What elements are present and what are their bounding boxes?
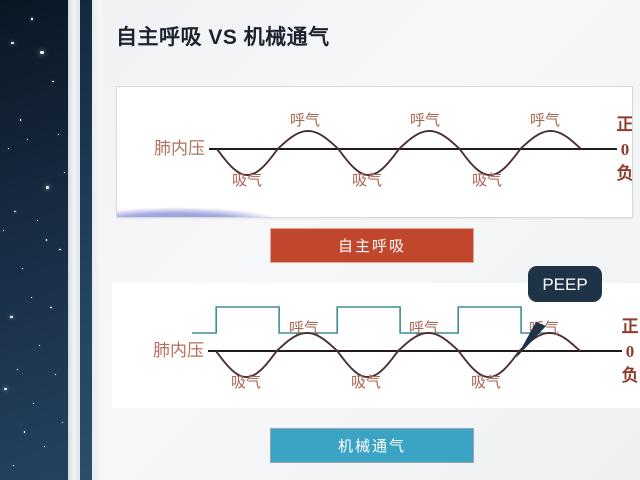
pressure-axis-label: 肺内压 [154, 139, 205, 158]
star-icon [46, 239, 47, 240]
star-icon [33, 403, 34, 404]
peep-callout[interactable]: PEEP [506, 262, 602, 362]
scale-label-zero: 0 [621, 140, 630, 159]
divider-strip-edge [92, 0, 102, 480]
spontaneous-breathing-chart: 肺内压正0负呼气呼气呼气吸气吸气吸气 [117, 87, 632, 217]
star-icon [58, 134, 59, 135]
exhale-label-2: 呼气 [410, 112, 440, 129]
star-icon [31, 297, 32, 298]
slide-content: 自主呼吸 VS 机械通气 肺内压正0负呼气呼气呼气吸气吸气吸气 自主呼吸 肺内压… [102, 0, 640, 480]
inhale-label-2: 吸气 [351, 374, 381, 391]
star-icon [52, 81, 53, 82]
star-icon [27, 139, 28, 140]
starfield-background [0, 0, 68, 480]
star-icon [8, 148, 9, 149]
ventilator-pressure-waveform [192, 307, 555, 333]
inhale-label-1: 吸气 [231, 374, 261, 391]
star-icon [39, 345, 40, 346]
star-icon [11, 42, 14, 45]
star-icon [24, 431, 25, 432]
scale-label-zero: 0 [626, 342, 635, 361]
exhale-label-1: 呼气 [289, 320, 319, 337]
star-icon [31, 18, 33, 20]
scale-label-positive: 正 [617, 115, 633, 134]
exhale-label-2: 呼气 [409, 320, 439, 337]
pressure-axis-label: 肺内压 [153, 341, 204, 360]
star-icon [50, 307, 51, 308]
inhale-label-3: 吸气 [471, 374, 501, 391]
star-icon [64, 172, 65, 173]
star-icon [14, 211, 15, 212]
exhale-label-3: 呼气 [530, 112, 560, 129]
scale-label-positive: 正 [622, 317, 639, 336]
exhale-label-1: 呼气 [290, 112, 320, 129]
scale-label-negative: 负 [617, 163, 633, 183]
page-title: 自主呼吸 VS 机械通气 [116, 21, 330, 51]
star-icon [10, 316, 12, 318]
star-icon [37, 220, 38, 221]
star-icon [59, 249, 60, 250]
peep-callout-label: PEEP [542, 275, 587, 294]
spontaneous-breathing-panel: 肺内压正0负呼气呼气呼气吸气吸气吸气 [116, 86, 633, 218]
star-icon [55, 374, 56, 375]
scale-label-negative: 负 [622, 365, 639, 385]
star-icon [62, 422, 63, 423]
slide-root: 自主呼吸 VS 机械通气 肺内压正0负呼气呼气呼气吸气吸气吸气 自主呼吸 肺内压… [0, 0, 640, 480]
star-icon [22, 268, 23, 269]
star-icon [20, 119, 22, 121]
star-icon [13, 465, 14, 466]
divider-strip-dark [80, 0, 92, 480]
divider-strip-light [68, 0, 80, 480]
star-icon [44, 446, 45, 447]
spontaneous-breathing-button[interactable]: 自主呼吸 [270, 228, 474, 263]
panel-wave-decoration [117, 201, 347, 217]
star-icon [46, 186, 49, 189]
inhale-label-3: 吸气 [472, 172, 502, 189]
star-icon [17, 369, 18, 370]
star-icon [3, 230, 5, 232]
inhale-label-2: 吸气 [352, 172, 382, 189]
inhale-label-1: 吸气 [232, 172, 262, 189]
mechanical-ventilation-button[interactable]: 机械通气 [270, 428, 474, 463]
intrapulmonary-pressure-waveform [217, 131, 581, 175]
star-icon [4, 388, 7, 391]
star-icon [40, 51, 43, 54]
